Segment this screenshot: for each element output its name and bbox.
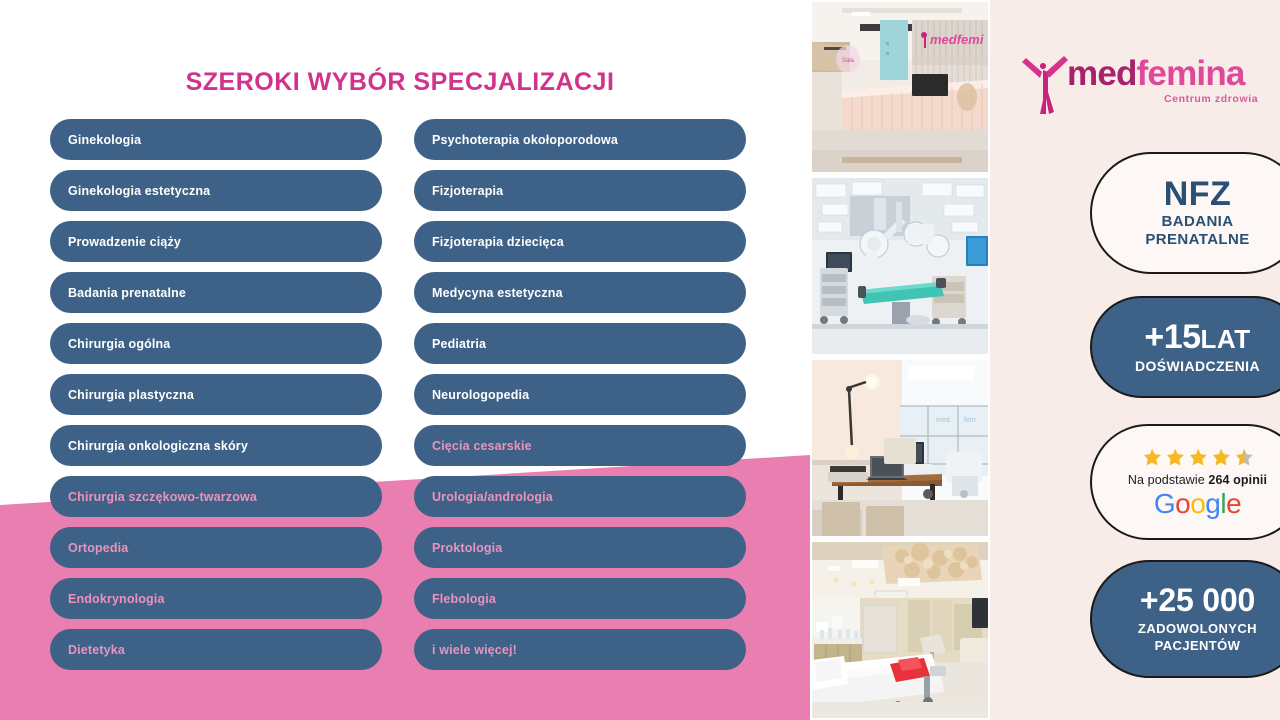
google-letter-o1: o [1175,488,1190,519]
specialization-label: Fizjoterapia dziecięca [432,235,564,249]
specialization-label: Pediatria [432,337,486,351]
page-title: SZEROKI WYBÓR SPECJALIZACJI [0,68,800,97]
svg-text:fem: fem [964,417,976,424]
specialization-label: Ginekologia [68,133,141,147]
specialization-pill[interactable]: Cięcia cesarskie [414,425,746,466]
specialization-label: i wiele więcej! [432,643,517,657]
specialization-pill[interactable]: Ginekologia [50,119,382,160]
google-letter-o2: o [1190,488,1205,519]
clinic-photo-strip: medfemi Sala [810,0,990,720]
specialization-pill[interactable]: Urologia/andrologia [414,476,746,517]
specialization-label: Psychoterapia okołoporodowa [432,133,618,147]
specialization-label: Proktologia [432,541,502,555]
specialization-pill[interactable]: Badania prenatalne [50,272,382,313]
specialization-label: Chirurgia ogólna [68,337,170,351]
svg-text:Sala: Sala [842,58,855,64]
specializations-panel: SZEROKI WYBÓR SPECJALIZACJI Ginekologia … [0,0,810,720]
specialization-label: Endokrynologia [68,592,165,606]
specialization-label: Neurologopedia [432,388,529,402]
google-letter-e: e [1226,488,1241,519]
specialization-pill[interactable]: Flebologia [414,578,746,619]
specialization-label: Chirurgia szczękowo-twarzowa [68,490,257,504]
specialization-label: Flebologia [432,592,496,606]
specialization-label: Chirurgia onkologiczna skóry [68,439,248,453]
specialization-pill[interactable]: i wiele więcej! [414,629,746,670]
medfemina-logo: medfemina Centrum zdrowia [1012,52,1262,118]
specialization-label: Chirurgia plastyczna [68,388,194,402]
google-letter-g2: g [1205,488,1220,519]
specialization-label: Ortopedia [68,541,128,555]
specialization-pill[interactable]: Pediatria [414,323,746,364]
specialization-pill[interactable]: Prowadzenie ciąży [50,221,382,262]
specialization-pill[interactable]: Fizjoterapia dziecięca [414,221,746,262]
specialization-column-right: Psychoterapia okołoporodowa Fizjoterapia… [414,119,746,680]
patients-number: +25 000 [1140,584,1255,616]
rating-prefix: Na podstawie [1128,473,1209,487]
specialization-label: Prowadzenie ciąży [68,235,181,249]
specialization-pill[interactable]: Chirurgia szczękowo-twarzowa [50,476,382,517]
nfz-badge[interactable]: NFZ BADANIA PRENATALNE [1090,152,1280,274]
google-letter-g1: G [1154,488,1175,519]
specialization-pill[interactable]: Fizjoterapia [414,170,746,211]
years-sublabel: DOŚWIADCZENIA [1135,358,1260,374]
specialization-label: Badania prenatalne [68,286,186,300]
consultation-office-photo: med fem [812,360,988,536]
years-number: +15 [1144,318,1200,356]
star-icon [1210,447,1232,468]
specialization-label: Fizjoterapia [432,184,503,198]
info-sidebar: medfemina Centrum zdrowia NFZ BADANIA PR… [990,0,1280,720]
specialization-label: Urologia/andrologia [432,490,553,504]
patient-room-photo [812,542,988,718]
logo-med-text: med [1067,54,1137,93]
patients-count-badge[interactable]: +25 000 ZADOWOLONYCH PACJENTÓW [1090,560,1280,678]
specialization-pill[interactable]: Chirurgia ogólna [50,323,382,364]
logo-femina-text: femina [1137,54,1245,93]
years-unit: LAT [1201,324,1251,354]
specialization-pill[interactable]: Ginekologia estetyczna [50,170,382,211]
years-experience-badge[interactable]: +15LAT DOŚWIADCZENIA [1090,296,1280,398]
specialization-pill[interactable]: Chirurgia onkologiczna skóry [50,425,382,466]
star-icon [1164,447,1186,468]
star-icon [1187,447,1209,468]
specialization-pill[interactable]: Neurologopedia [414,374,746,415]
specialization-label: Medycyna estetyczna [432,286,563,300]
years-headline: +15LAT [1144,320,1250,354]
patients-line2: ZADOWOLONYCH [1138,621,1257,637]
slide-root: SZEROKI WYBÓR SPECJALIZACJI Ginekologia … [0,0,1280,720]
google-wordmark: Google [1154,490,1241,518]
specialization-column-left: Ginekologia Ginekologia estetyczna Prowa… [50,119,382,680]
specialization-pill[interactable]: Endokrynologia [50,578,382,619]
specialization-pill[interactable]: Chirurgia plastyczna [50,374,382,415]
reception-desk-photo: medfemi Sala [812,2,988,172]
logo-wordmark: medfemina [1067,56,1245,91]
specialization-pill[interactable]: Medycyna estetyczna [414,272,746,313]
specialization-pill[interactable]: Proktologia [414,527,746,568]
specialization-pill[interactable]: Dietetyka [50,629,382,670]
star-rating [1141,447,1255,468]
svg-text:medfemi: medfemi [930,32,984,47]
google-rating-badge[interactable]: Na podstawie 264 opinii Google [1090,424,1280,540]
nfz-title: NFZ [1164,177,1232,213]
star-half-icon [1233,447,1255,468]
logo-tagline: Centrum zdrowia [1164,93,1258,105]
specialization-pill[interactable]: Psychoterapia okołoporodowa [414,119,746,160]
specialization-label: Cięcia cesarskie [432,439,532,453]
nfz-line3: PRENATALNE [1145,231,1249,249]
specialization-pill[interactable]: Ortopedia [50,527,382,568]
nfz-line2: BADANIA [1162,213,1234,231]
svg-text:med: med [936,417,950,424]
rating-count: 264 opinii [1208,473,1267,487]
star-icon [1141,447,1163,468]
specialization-label: Ginekologia estetyczna [68,184,210,198]
specialization-label: Dietetyka [68,643,125,657]
patients-line3: PACJENTÓW [1155,638,1241,654]
operating-room-photo [812,178,988,354]
rating-count-line: Na podstawie 264 opinii [1128,473,1267,487]
